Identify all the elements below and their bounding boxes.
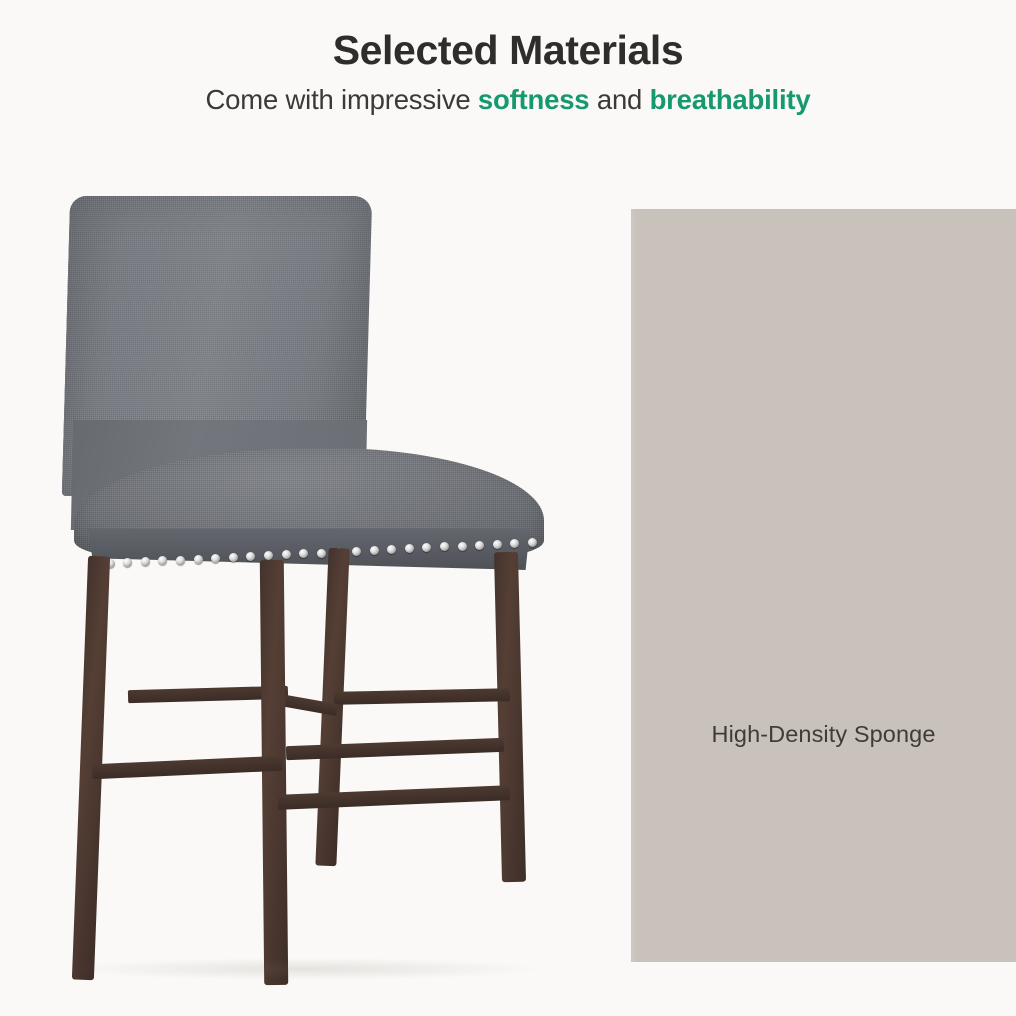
nailhead-stud xyxy=(510,539,519,548)
nailhead-stud xyxy=(194,555,203,564)
subtitle-accent-breathability: breathability xyxy=(650,84,811,115)
nailhead-stud xyxy=(475,541,484,550)
nailhead-stud xyxy=(158,556,167,565)
nailhead-stud xyxy=(352,547,361,556)
nailhead-stud xyxy=(123,558,132,567)
nailhead-stud xyxy=(264,551,273,560)
nailhead-stud xyxy=(211,554,220,563)
nailhead-stud xyxy=(370,546,379,555)
nailhead-stud xyxy=(176,556,185,565)
chair-footrest-right xyxy=(278,785,510,810)
nailhead-stud xyxy=(141,557,150,566)
floor-shadow xyxy=(70,958,540,980)
chair-leg-front-right xyxy=(260,560,288,985)
chair-stretcher-back xyxy=(334,688,510,705)
nailhead-stud xyxy=(422,543,431,552)
chair-stretcher-right-upper xyxy=(286,738,504,760)
nailhead-stud xyxy=(528,538,537,547)
nailhead-stud xyxy=(246,552,255,561)
chair-leg-back-right xyxy=(494,552,526,882)
nailhead-stud xyxy=(299,549,308,558)
nailhead-stud xyxy=(405,544,414,553)
nailhead-stud xyxy=(229,553,238,562)
nailhead-trim xyxy=(88,534,536,574)
bar-stool-product-image xyxy=(0,0,640,1016)
sponge-caption: High-Density Sponge xyxy=(631,721,1016,748)
chair-footrest-left xyxy=(92,756,282,780)
nailhead-stud xyxy=(440,542,449,551)
panel-left-edge xyxy=(631,209,635,962)
nailhead-stud xyxy=(317,549,326,558)
product-infographic: Selected Materials Come with impressive … xyxy=(0,0,1016,1016)
nailhead-stud xyxy=(493,540,502,549)
materials-panel: High-Density Sponge Skin-Friendly Linen … xyxy=(631,209,1016,962)
nailhead-stud xyxy=(458,542,467,551)
nailhead-stud xyxy=(282,550,291,559)
nailhead-stud xyxy=(387,545,396,554)
